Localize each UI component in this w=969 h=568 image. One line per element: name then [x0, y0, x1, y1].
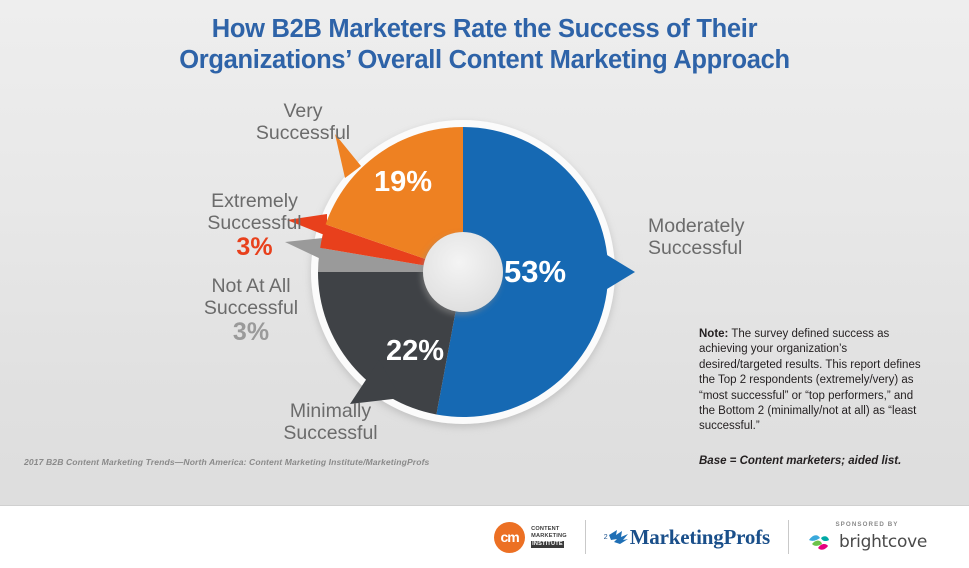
note-base: Base = Content marketers; aided list.	[699, 455, 949, 467]
logo-content-marketing-institute[interactable]: cm CONTENT MARKETING INSTITUTE	[476, 516, 585, 558]
bird-icon	[608, 528, 630, 546]
callout-minimally-line2: Successful	[283, 422, 377, 444]
callout-moderately-line2: Successful	[648, 237, 742, 259]
logo-brightcove[interactable]: SPONSORED BY brightcove	[789, 516, 945, 558]
note-block: Note: The survey defined success as achi…	[699, 327, 929, 435]
brightcove-mark-icon	[807, 531, 833, 553]
source-line: 2017 B2B Content Marketing Trends—North …	[24, 457, 429, 467]
callout-extremely-line2: Successful	[207, 212, 301, 234]
cmi-circle-icon: cm	[494, 522, 525, 553]
cmi-word-institute: INSTITUTE	[531, 541, 564, 548]
callout-not-at-all-successful: Not At All Successful 3%	[190, 275, 312, 346]
note-body: The survey defined success as achieving …	[699, 328, 921, 432]
callout-notatall-line1: Not At All	[211, 275, 290, 297]
sponsored-by-label: SPONSORED BY	[835, 521, 898, 528]
slice-value-very: 19%	[374, 166, 432, 198]
cmi-word-marketing: MARKETING	[531, 533, 567, 540]
cmi-word-content: CONTENT	[531, 526, 567, 533]
callout-extremely-successful: Extremely Successful 3%	[197, 190, 312, 261]
callout-extremely-value: 3%	[197, 234, 312, 261]
title-line-2: Organizations’ Overall Content Marketing…	[0, 45, 969, 76]
callout-minimally-successful: Minimally Successful	[268, 400, 393, 444]
callout-notatall-value: 3%	[190, 319, 312, 346]
callout-notatall-line2: Successful	[204, 297, 298, 319]
pie-chart: 53% 22% 19%	[283, 92, 643, 452]
pie-chart-svg: 53% 22% 19%	[283, 92, 643, 452]
callout-extremely-line1: Extremely	[211, 190, 298, 212]
donut-hole	[423, 232, 503, 312]
marketingprofs-wordmark: MarketingProfs	[630, 525, 770, 550]
infographic-canvas: How B2B Marketers Rate the Success of Th…	[0, 0, 969, 568]
callout-minimally-line1: Minimally	[290, 400, 371, 422]
logo-marketingprofs[interactable]: 2 MarketingProfs	[586, 516, 788, 558]
callout-moderately-successful: Moderately Successful	[648, 215, 744, 259]
slice-value-minimally: 22%	[386, 335, 444, 367]
page-title: How B2B Marketers Rate the Success of Th…	[0, 14, 969, 76]
brightcove-wordmark: brightcove	[839, 532, 927, 552]
cmi-monogram: cm	[500, 529, 518, 545]
footer-logos: cm CONTENT MARKETING INSTITUTE 2 Marketi…	[0, 506, 969, 568]
callout-very-line1: Very	[283, 100, 322, 122]
note-label: Note:	[699, 328, 728, 340]
slice-value-moderately: 53%	[504, 254, 566, 289]
callout-moderately-line1: Moderately	[648, 215, 744, 237]
title-line-1: How B2B Marketers Rate the Success of Th…	[212, 15, 757, 43]
callout-very-line2: Successful	[256, 122, 350, 144]
cmi-wordmark: CONTENT MARKETING INSTITUTE	[531, 526, 567, 548]
callout-very-successful: Very Successful	[248, 100, 358, 144]
